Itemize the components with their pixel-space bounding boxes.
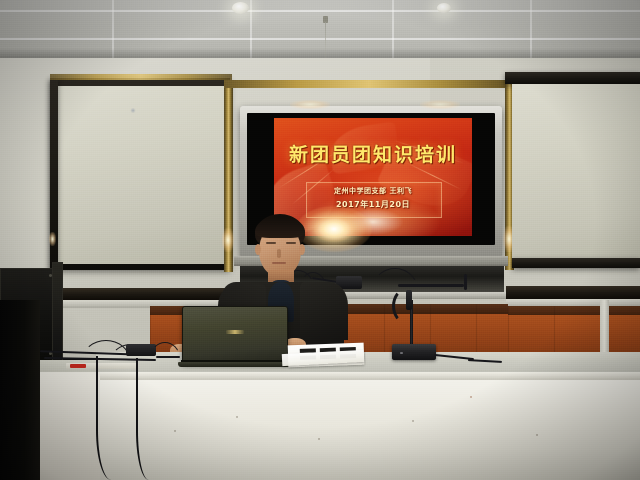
presenter-eye-left <box>266 242 276 244</box>
power-strip-switch <box>70 364 86 368</box>
bezel-highlight <box>420 100 460 109</box>
desk-speck <box>470 396 472 398</box>
desk-cable <box>156 356 180 358</box>
desk-speck <box>318 438 320 440</box>
microphone-base[interactable] <box>392 344 436 360</box>
bezel-highlight <box>290 100 330 109</box>
screen-glare-core <box>314 216 354 242</box>
presenter-ear-right <box>299 244 305 255</box>
whiteboard-frame-right-top <box>505 72 640 84</box>
desk-speck <box>236 416 238 418</box>
desk-speck <box>536 434 538 436</box>
laptop-lid[interactable] <box>182 306 288 364</box>
board-rail-top-gold <box>224 80 514 88</box>
wood-panel-shadow <box>508 306 640 315</box>
slide-title: 新团员团知识培训 <box>274 140 472 167</box>
presenter-shoulder-right <box>300 282 348 340</box>
photograph-root: 新团员团知识培训 定州中学团支部 王利飞 2017年11月20日 <box>0 0 640 480</box>
whiteboard-frame-right-bottom <box>512 258 640 268</box>
microphone-indicator-led <box>400 352 403 354</box>
presenter-nose <box>277 249 281 258</box>
wall-chair-rail-right <box>506 286 640 299</box>
board-rail-upper <box>50 74 232 80</box>
laptop-brand-logo-icon <box>226 330 244 334</box>
ceiling-grid-line <box>0 38 640 40</box>
desk-front-panel <box>96 380 640 480</box>
presenter-eye-right <box>286 242 296 244</box>
av-cable <box>398 284 464 287</box>
whiteboard-smudge <box>130 108 136 113</box>
ceiling-grid-line <box>0 10 640 12</box>
whiteboard-panel-right <box>512 84 640 264</box>
ceiling-dome-light-icon <box>232 2 249 14</box>
av-cable <box>464 274 467 290</box>
ceiling-dome-light-icon <box>437 3 451 13</box>
desk-speck <box>174 430 176 432</box>
desk-speck <box>412 420 414 422</box>
presenter-mouth <box>272 262 286 264</box>
presenter-ear-left <box>255 244 261 255</box>
slide-subtitle-line-1: 定州中学团支部 王利飞 <box>274 186 472 196</box>
hanging-cable <box>96 356 134 480</box>
foreground-shadow-left <box>0 300 40 480</box>
frame-glint <box>49 232 56 246</box>
slide-subtitle-line-2: 2017年11月20日 <box>274 199 472 210</box>
laptop-base[interactable] <box>178 362 290 367</box>
microphone-capsule <box>406 290 412 310</box>
whiteboard-panel-left <box>58 86 224 264</box>
frame-glint <box>222 228 234 252</box>
hanging-cable <box>136 358 168 480</box>
